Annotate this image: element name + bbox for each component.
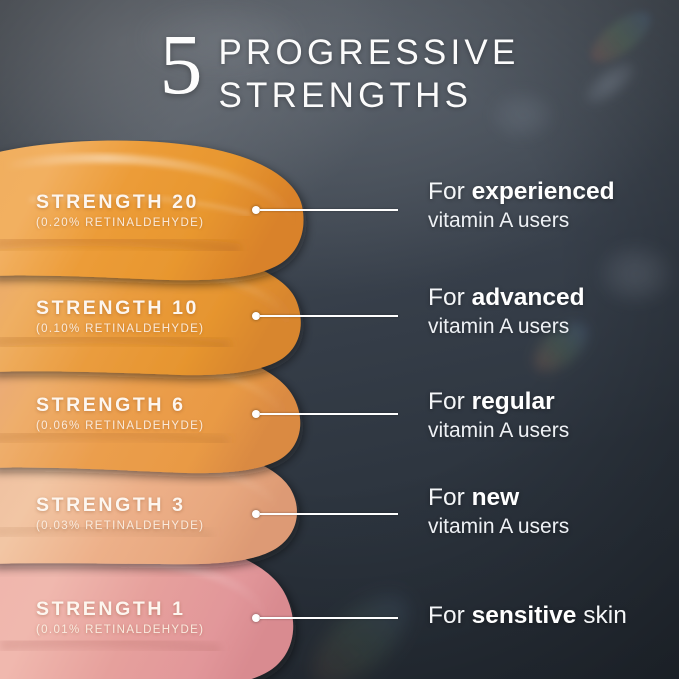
swatch-label-strength-6: STRENGTH 6 (0.06% RETINALDEHYDE) — [36, 394, 204, 432]
description-strength-3: For new vitamin A users — [428, 484, 569, 540]
swatch-title: STRENGTH 20 — [36, 191, 204, 214]
description-subline: vitamin A users — [428, 314, 585, 339]
description-headline: For advanced — [428, 284, 585, 311]
swatch-label-strength-20: STRENGTH 20 (0.20% RETINALDEHYDE) — [36, 191, 204, 229]
description-prefix: For — [428, 602, 472, 629]
description-subline: vitamin A users — [428, 514, 569, 539]
infographic-canvas: 5 PROGRESSIVE STRENGTHS — [0, 0, 679, 679]
description-headline: For new — [428, 484, 569, 511]
description-strength-20: For experienced vitamin A users — [428, 178, 615, 234]
swatch-label-strength-3: STRENGTH 3 (0.03% RETINALDEHYDE) — [36, 494, 204, 532]
description-suffix: skin — [576, 602, 626, 629]
swatch-title: STRENGTH 3 — [36, 494, 204, 517]
swatch-subtitle: (0.20% RETINALDEHYDE) — [36, 217, 204, 229]
description-prefix: For — [428, 388, 472, 415]
description-emphasis: sensitive — [472, 602, 577, 629]
heading-line-1: PROGRESSIVE — [219, 32, 520, 75]
swatch-label-strength-10: STRENGTH 10 (0.10% RETINALDEHYDE) — [36, 297, 204, 335]
description-subline: vitamin A users — [428, 418, 569, 443]
description-strength-10: For advanced vitamin A users — [428, 284, 585, 340]
description-strength-1: For sensitive skin — [428, 602, 627, 632]
description-prefix: For — [428, 484, 472, 511]
description-emphasis: new — [472, 484, 520, 511]
heading-words: PROGRESSIVE STRENGTHS — [219, 26, 520, 117]
description-prefix: For — [428, 284, 472, 311]
description-strength-6: For regular vitamin A users — [428, 388, 569, 444]
description-emphasis: advanced — [472, 284, 585, 311]
description-subline: vitamin A users — [428, 208, 615, 233]
description-headline: For experienced — [428, 178, 615, 205]
swatch-subtitle: (0.03% RETINALDEHYDE) — [36, 520, 204, 532]
description-emphasis: regular — [472, 388, 555, 415]
swatch-title: STRENGTH 6 — [36, 394, 204, 417]
heading-line-2: STRENGTHS — [219, 75, 520, 118]
swatch-title: STRENGTH 1 — [36, 598, 204, 621]
description-headline: For sensitive skin — [428, 602, 627, 629]
description-prefix: For — [428, 178, 472, 205]
swatch-title: STRENGTH 10 — [36, 297, 204, 320]
description-headline: For regular — [428, 388, 569, 415]
swatch-subtitle: (0.01% RETINALDEHYDE) — [36, 624, 204, 636]
swatch-label-strength-1: STRENGTH 1 (0.01% RETINALDEHYDE) — [36, 598, 204, 636]
heading-number: 5 — [160, 24, 203, 106]
swatch-subtitle: (0.10% RETINALDEHYDE) — [36, 323, 204, 335]
swatch-subtitle: (0.06% RETINALDEHYDE) — [36, 420, 204, 432]
page-title: 5 PROGRESSIVE STRENGTHS — [0, 26, 679, 117]
description-emphasis: experienced — [472, 178, 615, 205]
